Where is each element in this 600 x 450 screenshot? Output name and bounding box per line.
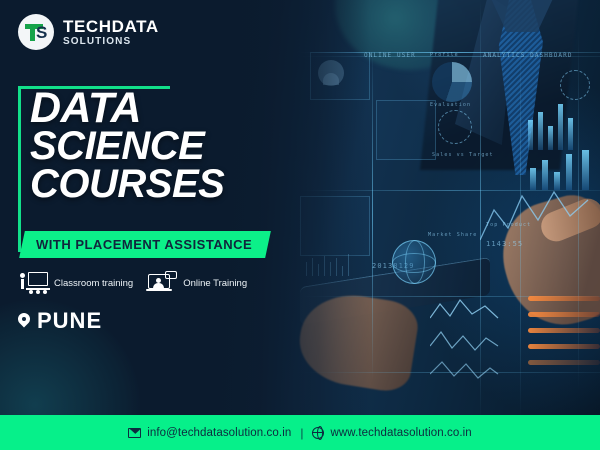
brand-logo[interactable]: S TECHDATA SOLUTIONS xyxy=(18,14,159,50)
mode-online-label: Online Training xyxy=(183,278,247,289)
globe-icon xyxy=(312,427,324,439)
accent-bracket-left xyxy=(18,86,21,252)
promo-banner: ONLINE USER ANALYTICS DASHBOARD Profile … xyxy=(0,0,600,450)
techdata-monogram-icon: S xyxy=(18,14,54,50)
training-modes: Classroom training Online Training xyxy=(18,272,247,294)
mode-classroom-label: Classroom training xyxy=(54,278,133,289)
location-city: PUNE xyxy=(37,308,102,334)
headline-line-3: COURSES xyxy=(30,166,330,204)
footer-email[interactable]: info@techdatasolution.co.in xyxy=(128,427,291,439)
envelope-icon xyxy=(128,428,141,438)
ribbon-label: WITH PLACEMENT ASSISTANCE xyxy=(36,237,252,252)
footer-website[interactable]: www.techdatasolution.co.in xyxy=(312,427,471,439)
location-block: PUNE xyxy=(18,308,102,334)
contact-footer: info@techdatasolution.co.in | www.techda… xyxy=(0,415,600,450)
placement-ribbon: WITH PLACEMENT ASSISTANCE xyxy=(19,231,271,258)
mode-online[interactable]: Online Training xyxy=(147,272,247,294)
footer-website-text: www.techdatasolution.co.in xyxy=(330,427,471,439)
classroom-icon xyxy=(18,272,48,294)
brand-name: TECHDATA xyxy=(63,18,159,35)
brand-tagline: SOLUTIONS xyxy=(63,37,159,47)
map-pin-icon xyxy=(18,313,30,330)
mode-classroom[interactable]: Classroom training xyxy=(18,272,133,294)
online-training-icon xyxy=(147,272,177,294)
footer-separator: | xyxy=(300,426,303,440)
headline-line-1: DATA xyxy=(30,88,330,128)
headline-line-2: SCIENCE xyxy=(30,128,330,166)
page-title: DATA SCIENCE COURSES xyxy=(30,88,330,204)
footer-email-text: info@techdatasolution.co.in xyxy=(147,427,291,439)
